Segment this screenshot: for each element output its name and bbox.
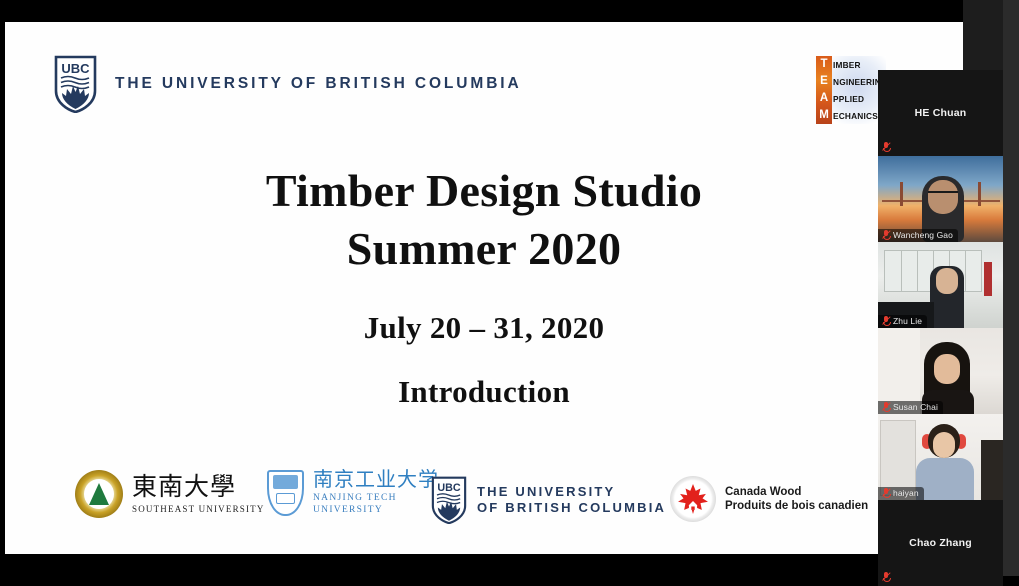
participant-name-badge: haiyan — [878, 487, 924, 500]
slide-date: July 20 – 31, 2020 — [5, 310, 963, 346]
participant-name: Zhu Lie — [893, 316, 922, 326]
participant-name: HE Chuan — [915, 107, 967, 119]
logo-ubc-footer: UBC THE UNIVERSITY OF BRITISH COLUMBIA — [430, 476, 666, 524]
participant-name: Chao Zhang — [909, 537, 972, 549]
mic-muted-icon — [882, 402, 890, 412]
ubc-wordmark: THE UNIVERSITY OF BRITISH COLUMBIA — [115, 75, 522, 93]
video-off-placeholder: Chao Zhang — [878, 500, 1003, 586]
nanjing-tech-text: 南京工业大学 NANJING TECH UNIVERSITY — [313, 470, 439, 516]
participant-name-badge: Zhu Lie — [878, 315, 927, 328]
nanjing-tech-en-line2: UNIVERSITY — [313, 505, 439, 517]
ubc-header-logo: UBC THE UNIVERSITY OF BRITISH COLUMBIA — [53, 55, 522, 113]
mic-muted-icon — [882, 316, 890, 326]
slide-title-block: Timber Design Studio Summer 2020 July 20… — [5, 162, 963, 410]
participant-name: haiyan — [893, 488, 919, 498]
team-letters: T E A M — [816, 56, 832, 124]
mic-muted-icon — [882, 142, 890, 152]
canada-wood-line1: Canada Wood — [725, 485, 868, 499]
participant-tile[interactable]: haiyan — [878, 414, 1003, 500]
southeast-university-en: SOUTHEAST UNIVERSITY — [132, 504, 265, 514]
participant-tile[interactable]: Susan Chai — [878, 328, 1003, 414]
ubc-footer-wordmark: THE UNIVERSITY OF BRITISH COLUMBIA — [477, 484, 666, 516]
southeast-university-seal-icon — [75, 470, 123, 518]
nanjing-tech-cn: 南京工业大学 — [313, 470, 439, 490]
footer-logo-row: 東南大學 SOUTHEAST UNIVERSITY 南京工业大学 NANJING… — [75, 462, 895, 526]
video-off-placeholder: HE Chuan — [878, 70, 1003, 156]
team-letter-t: T — [820, 59, 827, 71]
team-letter-a: A — [820, 93, 828, 105]
ubc-shield-icon: UBC — [53, 55, 98, 113]
screen: UBC THE UNIVERSITY OF BRITISH COLUMBIA T… — [0, 0, 1019, 576]
participant-tile[interactable]: Wancheng Gao — [878, 156, 1003, 242]
logo-nanjing-tech-university: 南京工业大学 NANJING TECH UNIVERSITY — [267, 470, 439, 516]
nanjing-tech-shield-icon — [267, 470, 304, 516]
southeast-university-text: 東南大學 SOUTHEAST UNIVERSITY — [132, 475, 265, 514]
participant-tile[interactable]: Zhu Lie — [878, 242, 1003, 328]
ubc-footer-line1: THE UNIVERSITY — [477, 484, 666, 500]
team-letter-m: M — [819, 110, 829, 122]
ubc-shield-icon-footer: UBC — [430, 476, 468, 524]
canada-wood-line2: Produits de bois canadien — [725, 499, 868, 513]
right-rail — [1003, 0, 1019, 576]
team-logo: T E A M IMBER NGINEERING PPLIED ECHANICS — [816, 56, 886, 124]
zoom-participant-filmstrip[interactable]: HE Chuan Wancheng Gao — [878, 70, 1003, 500]
mic-muted-icon — [882, 488, 890, 498]
logo-southeast-university: 東南大學 SOUTHEAST UNIVERSITY — [75, 470, 265, 518]
participant-tile[interactable]: HE Chuan — [878, 70, 1003, 156]
presentation-slide: UBC THE UNIVERSITY OF BRITISH COLUMBIA T… — [5, 22, 963, 554]
mic-muted-icon — [882, 572, 890, 582]
slide-title-line2: Summer 2020 — [5, 220, 963, 278]
participant-tile[interactable]: Chao Zhang — [878, 500, 1003, 586]
southeast-university-cn: 東南大學 — [132, 475, 265, 500]
team-word-timber: IMBER — [833, 60, 888, 70]
slide-title-line1: Timber Design Studio — [5, 162, 963, 220]
participant-name-badge: Susan Chai — [878, 401, 943, 414]
participant-name: Susan Chai — [893, 402, 938, 412]
nanjing-tech-en-line1: NANJING TECH — [313, 493, 439, 505]
svg-text:UBC: UBC — [61, 61, 90, 76]
svg-text:UBC: UBC — [437, 482, 461, 494]
mic-muted-icon — [882, 230, 890, 240]
canada-wood-text: Canada Wood Produits de bois canadien — [725, 485, 868, 513]
participant-name-badge: Wancheng Gao — [878, 229, 958, 242]
participant-name: Wancheng Gao — [893, 230, 953, 240]
slide-subtitle: Introduction — [5, 374, 963, 410]
team-letter-e: E — [820, 76, 828, 88]
ubc-footer-line2: OF BRITISH COLUMBIA — [477, 500, 666, 516]
maple-leaf-icon — [670, 476, 716, 522]
logo-canada-wood: Canada Wood Produits de bois canadien — [670, 476, 868, 522]
